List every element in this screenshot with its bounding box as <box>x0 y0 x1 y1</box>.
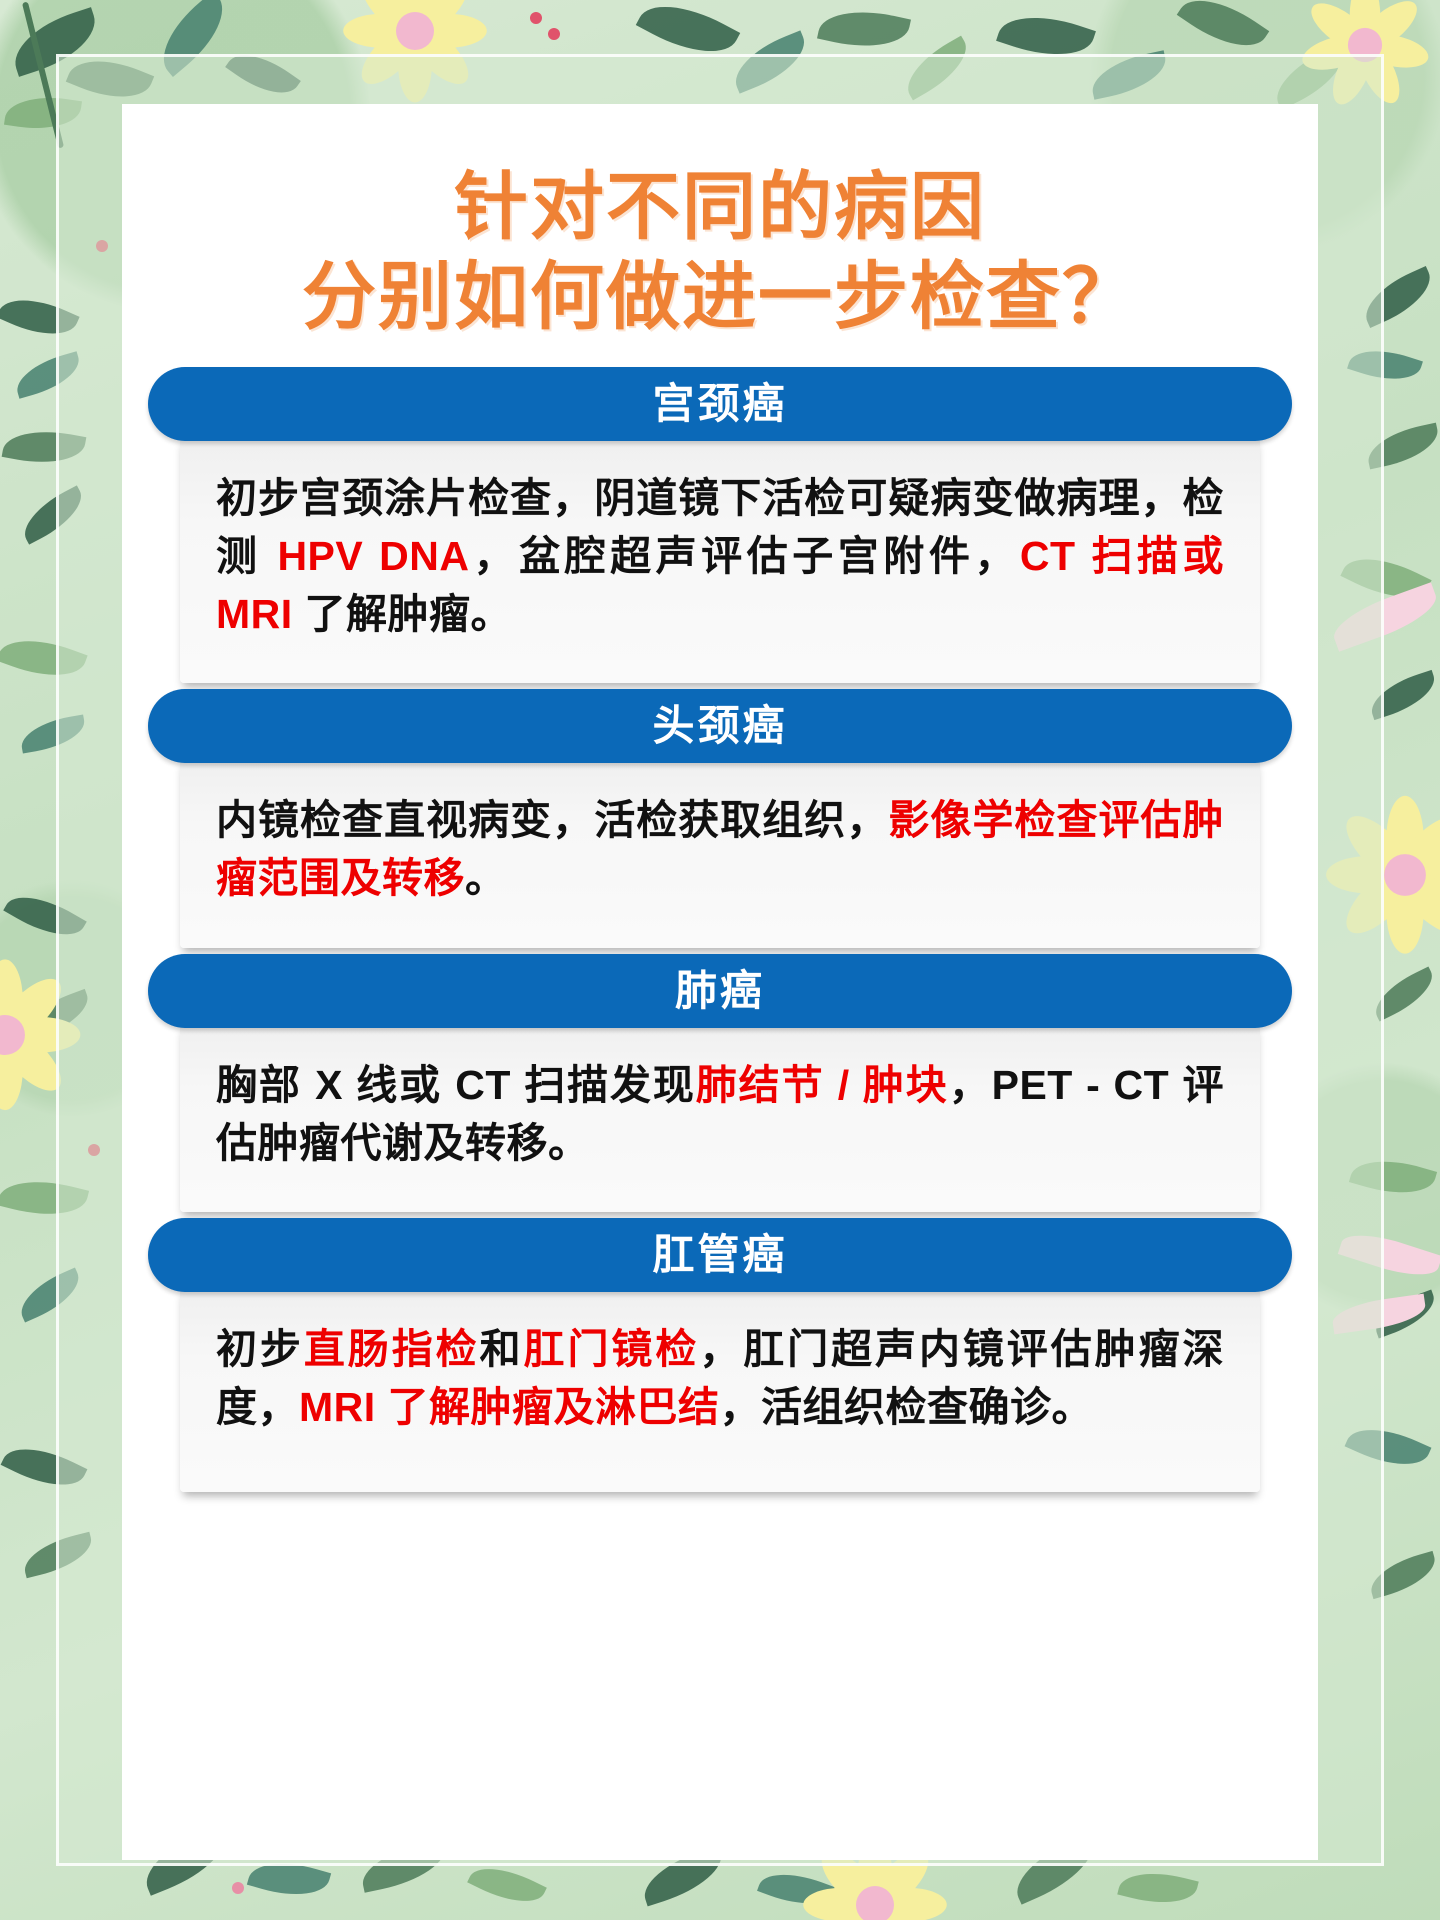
title-line-1: 针对不同的病因 <box>122 162 1318 252</box>
body-text-segment: 了解肿瘤。 <box>293 591 512 637</box>
leaf-decoration <box>1117 1863 1198 1912</box>
section-4: 肛管癌初步直肠指检和肛门镜检，肛门超声内镜评估肿瘤深度，MRI 了解肿瘤及淋巴结… <box>148 1218 1292 1492</box>
section-header-banner[interactable]: 头颈癌 <box>148 689 1292 763</box>
section-body-card: 初步直肠指检和肛门镜检，肛门超声内镜评估肿瘤深度，MRI 了解肿瘤及淋巴结，活组… <box>180 1286 1260 1492</box>
section-body-card: 初步宫颈涂片检查，阴道镜下活检可疑病变做病理，检测 HPV DNA，盆腔超声评估… <box>180 435 1260 684</box>
section-body-text: 内镜检查直视病变，活检获取组织，影像学检查评估肿瘤范围及转移。 <box>216 791 1224 907</box>
section-body-text: 初步直肠指检和肛门镜检，肛门超声内镜评估肿瘤深度，MRI 了解肿瘤及淋巴结，活组… <box>216 1320 1224 1436</box>
body-text-segment: 初步 <box>216 1326 304 1372</box>
body-text-segment: ，盆腔超声评估子宫附件， <box>470 533 1020 579</box>
body-text-segment: ，活组织检查确诊。 <box>720 1384 1094 1430</box>
section-header-label: 肺癌 <box>675 970 765 1012</box>
leaf-decoration <box>817 1 911 56</box>
berry-decoration <box>530 12 542 24</box>
highlighted-term: HPV DNA <box>277 533 469 579</box>
title-line-2: 分别如何做进一步检查？ <box>122 252 1318 342</box>
highlighted-term: 肺结节 / 肿块 <box>696 1062 949 1108</box>
body-text-segment: 。 <box>465 855 507 901</box>
section-1: 宫颈癌初步宫颈涂片检查，阴道镜下活检可疑病变做病理，检测 HPV DNA，盆腔超… <box>148 367 1292 684</box>
highlighted-term: 肛门镜检 <box>524 1326 700 1372</box>
section-header-banner[interactable]: 肺癌 <box>148 954 1292 1028</box>
highlighted-term: 直肠指检 <box>304 1326 480 1372</box>
body-text-segment: 内镜检查直视病变，活检获取组织， <box>216 797 888 843</box>
sections-list: 宫颈癌初步宫颈涂片检查，阴道镜下活检可疑病变做病理，检测 HPV DNA，盆腔超… <box>122 367 1318 1493</box>
section-header-label: 肛管癌 <box>652 1234 787 1276</box>
section-header-label: 头颈癌 <box>652 705 787 747</box>
section-header-banner[interactable]: 宫颈癌 <box>148 367 1292 441</box>
berry-decoration <box>548 28 560 40</box>
section-2: 头颈癌内镜检查直视病变，活检获取组织，影像学检查评估肿瘤范围及转移。 <box>148 689 1292 947</box>
page-title: 针对不同的病因 分别如何做进一步检查？ <box>122 104 1318 343</box>
berry-decoration <box>232 1882 244 1894</box>
section-body-text: 初步宫颈涂片检查，阴道镜下活检可疑病变做病理，检测 HPV DNA，盆腔超声评估… <box>216 469 1224 644</box>
highlighted-term: MRI 了解肿瘤及淋巴结 <box>299 1384 720 1430</box>
section-header-banner[interactable]: 肛管癌 <box>148 1218 1292 1292</box>
body-text-segment: 胸部 X 线或 CT 扫描发现 <box>216 1062 696 1108</box>
poster-card: 针对不同的病因 分别如何做进一步检查？ 宫颈癌初步宫颈涂片检查，阴道镜下活检可疑… <box>122 104 1318 1860</box>
body-text-segment: 和 <box>480 1326 524 1372</box>
section-body-card: 内镜检查直视病变，活检获取组织，影像学检查评估肿瘤范围及转移。 <box>180 757 1260 947</box>
section-3: 肺癌胸部 X 线或 CT 扫描发现肺结节 / 肿块，PET - CT 评估肿瘤代… <box>148 954 1292 1212</box>
section-body-card: 胸部 X 线或 CT 扫描发现肺结节 / 肿块，PET - CT 评估肿瘤代谢及… <box>180 1022 1260 1212</box>
section-body-text: 胸部 X 线或 CT 扫描发现肺结节 / 肿块，PET - CT 评估肿瘤代谢及… <box>216 1056 1224 1172</box>
section-header-label: 宫颈癌 <box>652 383 787 425</box>
